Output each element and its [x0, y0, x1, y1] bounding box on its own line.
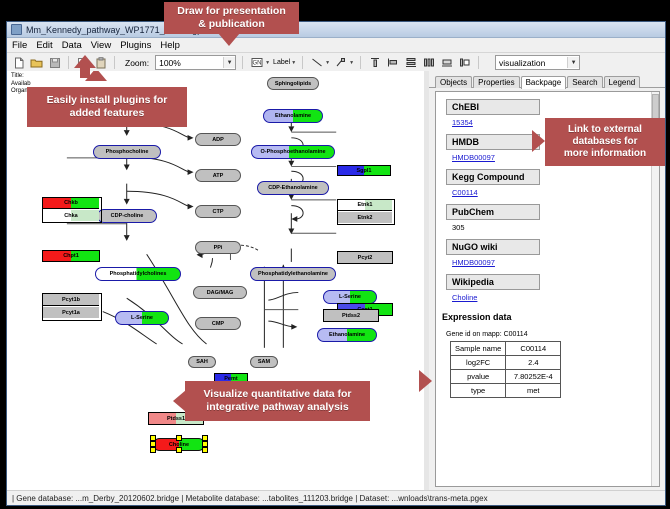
- node-label: Ethanolamine: [275, 113, 311, 119]
- toolbar-separator: [242, 56, 243, 69]
- db-entry-kegg: Kegg Compound C00114: [446, 162, 659, 197]
- node-label: CDP-choline: [111, 213, 144, 219]
- chevron-down-icon[interactable]: ▼: [223, 57, 235, 68]
- cell-label: type: [451, 384, 506, 398]
- zoom-label: Zoom:: [125, 58, 149, 68]
- node-label: SAH: [196, 359, 208, 365]
- node-atp[interactable]: ATP: [195, 169, 241, 182]
- meta-title: Title:: [11, 73, 32, 81]
- line-icon[interactable]: [309, 55, 324, 70]
- node-label: Phosphatidylcholines: [110, 271, 167, 277]
- node-label: CTP: [213, 209, 224, 215]
- status-bar: | Gene database: ...m_Derby_20120602.bri…: [7, 490, 665, 505]
- db-link-nugo[interactable]: HMDB00097: [452, 258, 659, 267]
- chevron-down-icon[interactable]: ▼: [567, 57, 579, 68]
- toolbar-separator: [478, 56, 479, 69]
- db-value-pubchem: 305: [452, 223, 659, 232]
- node-label: Pcyt2: [358, 255, 373, 261]
- node-l-serine-left[interactable]: L-Serine: [115, 311, 169, 325]
- callout-visualize-arrow: [173, 390, 186, 412]
- menu-item-plugins[interactable]: Plugins: [120, 40, 151, 51]
- resize-handle[interactable]: [176, 447, 182, 453]
- gene-pcyt1b[interactable]: Pcyt1b: [43, 294, 99, 306]
- node-sphingolipids[interactable]: Sphingolipids: [267, 77, 319, 90]
- db-name-nugo: NuGO wiki: [446, 239, 540, 255]
- menu-item-file[interactable]: File: [12, 40, 27, 51]
- callout-draw: Draw for presentation & publication: [164, 2, 299, 34]
- callout-links-line3: more information: [564, 148, 646, 160]
- gene-pcyt2[interactable]: Pcyt2: [337, 251, 393, 264]
- chevron-down-icon[interactable]: ▼: [325, 60, 330, 66]
- table-row: type met: [451, 384, 561, 398]
- db-name-pubchem: PubChem: [446, 204, 540, 220]
- cell-value: 2.4: [506, 356, 561, 370]
- datanode-dropdown[interactable]: GN ▼: [249, 55, 270, 70]
- node-label: Sgpl1: [357, 168, 372, 174]
- tab-search[interactable]: Search: [567, 76, 602, 88]
- panel-splitter[interactable]: [424, 71, 429, 491]
- resize-handle[interactable]: [176, 435, 182, 441]
- tab-legend[interactable]: Legend: [604, 76, 641, 88]
- db-entry-pubchem: PubChem 305: [446, 197, 659, 232]
- node-label: Etnk1: [358, 202, 373, 208]
- pathvisio-icon: [11, 24, 22, 35]
- gene-chpt1[interactable]: Chpt1: [42, 250, 100, 262]
- toolbar-separator: [360, 56, 361, 69]
- visualization-combo[interactable]: visualization ▼: [495, 55, 580, 70]
- callout-links: Link to external databases for more info…: [545, 118, 665, 166]
- node-phosphocholine[interactable]: Phosphocholine: [93, 145, 161, 159]
- gene-group-chk[interactable]: Chkb Chka: [42, 197, 102, 223]
- screenshot-root: Mm_Kennedy_pathway_WP1771_45176.gpml Fil…: [0, 0, 670, 509]
- gene-ptdss2[interactable]: Ptdss2: [323, 309, 379, 322]
- cell-label: pvalue: [451, 370, 506, 384]
- gene-etnk2[interactable]: Etnk2: [338, 212, 392, 223]
- callout-plugins-line2: added features: [70, 107, 145, 120]
- callout-draw-line1: Draw for presentation: [177, 5, 286, 18]
- selected-node-group[interactable]: Choline: [150, 435, 208, 452]
- datanode-icon[interactable]: GN: [249, 55, 264, 70]
- node-dag-mag[interactable]: DAG/MAG: [193, 286, 247, 299]
- open-folder-icon[interactable]: [29, 55, 44, 70]
- gene-chkb[interactable]: Chkb: [43, 198, 99, 209]
- chevron-down-icon[interactable]: ▼: [265, 60, 270, 66]
- distribute-icon[interactable]: [421, 55, 436, 70]
- menu-item-view[interactable]: View: [91, 40, 111, 51]
- new-document-icon[interactable]: [11, 55, 26, 70]
- db-name-chebi: ChEBI: [446, 99, 540, 115]
- node-o-phosphoethanolamine[interactable]: O-Phosphoethanolamine: [251, 145, 335, 159]
- gene-etnk1[interactable]: Etnk1: [338, 200, 392, 211]
- gene-group-pcyt1[interactable]: Pcyt1b Pcyt1a: [42, 293, 102, 321]
- db-name-wikipedia: Wikipedia: [446, 274, 540, 290]
- node-cdp-choline[interactable]: CDP-choline: [97, 209, 157, 223]
- gene-group-etnk[interactable]: Etnk1 Etnk2: [337, 199, 395, 225]
- application-window: Mm_Kennedy_pathway_WP1771_45176.gpml Fil…: [6, 21, 666, 506]
- node-ethanolamine-bottom[interactable]: Ethanolamine: [317, 328, 377, 342]
- db-entry-nugo: NuGO wiki HMDB00097: [446, 232, 659, 267]
- node-ppi[interactable]: PPi: [195, 241, 241, 254]
- node-label: Pcyt1b: [62, 297, 80, 303]
- callout-links-line1: Link to external: [568, 124, 642, 136]
- toolbar-separator: [68, 56, 69, 69]
- callout-draw-line2: & publication: [198, 18, 265, 31]
- node-cmp[interactable]: CMP: [195, 317, 241, 330]
- node-label: L-Serine: [339, 294, 361, 300]
- callout-visualize-line1: Visualize quantitative data for: [203, 388, 351, 401]
- expression-table: Sample name C00114 log2FC 2.4 pvalue 7.8…: [450, 341, 561, 398]
- pathway-canvas[interactable]: Title: Availab Organis: [7, 71, 429, 491]
- node-label: ATP: [213, 173, 224, 179]
- callout-visualize-line2: integrative pathway analysis: [206, 401, 348, 414]
- gene-id-on-mapp: Gene id on mapp: C00114: [446, 331, 659, 338]
- label-button[interactable]: Label: [273, 59, 290, 66]
- expression-data-heading: Expression data: [442, 312, 659, 322]
- node-ethanolamine-top[interactable]: Ethanolamine: [263, 109, 323, 123]
- node-label: SAM: [258, 359, 270, 365]
- node-adp[interactable]: ADP: [195, 133, 241, 146]
- node-label: Sphingolipids: [275, 81, 311, 87]
- callout-plugins-line1: Easily install plugins for: [47, 94, 168, 107]
- node-label: Ptdss1: [167, 416, 185, 422]
- arrow-stem: [80, 66, 90, 78]
- align-top-icon[interactable]: [367, 55, 382, 70]
- panel-tabs: Objects Properties Backpage Search Legen…: [429, 71, 665, 88]
- tab-properties[interactable]: Properties: [473, 76, 519, 88]
- node-label: PPi: [214, 245, 223, 251]
- node-label: DAG/MAG: [207, 290, 234, 296]
- node-label: Chka: [64, 213, 77, 219]
- visualization-value: visualization: [499, 58, 567, 68]
- common-width-icon[interactable]: [439, 55, 454, 70]
- node-label: CDP-Ethanolamine: [268, 185, 318, 191]
- tab-backpage[interactable]: Backpage: [521, 76, 567, 89]
- stack-vertical-icon[interactable]: [403, 55, 418, 70]
- toolbar-separator: [114, 56, 115, 69]
- bring-to-front-icon[interactable]: [457, 55, 472, 70]
- toolbar-separator: [302, 56, 303, 69]
- callout-draw-arrow: [218, 33, 240, 46]
- db-link-wikipedia[interactable]: Choline: [452, 293, 659, 302]
- node-label: L-Serine: [131, 315, 153, 321]
- node-label: Chpt1: [63, 253, 79, 259]
- table-row: log2FC 2.4: [451, 356, 561, 370]
- gene-chka[interactable]: Chka: [43, 210, 99, 221]
- zoom-value: 100%: [159, 58, 223, 68]
- callout-plugins: Easily install plugins for added feature…: [27, 87, 187, 127]
- node-label: O-Phosphoethanolamine: [260, 149, 325, 155]
- menu-item-edit[interactable]: Edit: [36, 40, 52, 51]
- node-label: Chkb: [64, 200, 78, 206]
- label-dropdown[interactable]: Label ▼: [273, 59, 296, 66]
- interaction-dropdown[interactable]: ▼: [333, 55, 354, 70]
- table-row: pvalue 7.80252E-4: [451, 370, 561, 384]
- title-bar: Mm_Kennedy_pathway_WP1771_45176.gpml: [7, 22, 665, 38]
- db-link-kegg[interactable]: C00114: [452, 188, 659, 197]
- chevron-down-icon[interactable]: ▼: [349, 60, 354, 66]
- db-name-hmdb: HMDB: [446, 134, 540, 150]
- resize-handle[interactable]: [150, 447, 156, 453]
- callout-links-arrow: [532, 130, 545, 152]
- node-label: Phosphocholine: [106, 149, 149, 155]
- cell-label: log2FC: [451, 356, 506, 370]
- tab-objects[interactable]: Objects: [435, 76, 472, 88]
- node-label: Ptdss2: [342, 313, 360, 319]
- svg-text:GN: GN: [252, 61, 261, 67]
- menu-bar: File Edit Data View Plugins Help: [7, 38, 665, 53]
- node-sah[interactable]: SAH: [188, 356, 216, 368]
- node-ctp[interactable]: CTP: [195, 205, 241, 218]
- save-disk-icon[interactable]: [47, 55, 62, 70]
- gene-sgpl1[interactable]: Sgpl1: [337, 165, 391, 176]
- node-phosphatidylethanolamine[interactable]: Phosphatidylethanolamine: [250, 267, 336, 281]
- align-left-icon[interactable]: [385, 55, 400, 70]
- node-label: Ethanolamine: [329, 332, 365, 338]
- node-label: Pcyt1a: [62, 310, 80, 316]
- resize-handle[interactable]: [202, 447, 208, 453]
- chevron-down-icon[interactable]: ▼: [291, 60, 296, 66]
- zoom-combo[interactable]: 100% ▼: [155, 55, 236, 70]
- interaction-icon[interactable]: [333, 55, 348, 70]
- node-label: ADP: [212, 137, 224, 143]
- node-cdp-ethanolamine[interactable]: CDP-Ethanolamine: [257, 181, 329, 195]
- callout-visualize-arrow-right: [419, 370, 432, 392]
- gene-pcyt1a[interactable]: Pcyt1a: [43, 307, 99, 318]
- node-label: Phosphatidylethanolamine: [258, 271, 328, 277]
- callout-plugins-pointer: [74, 55, 96, 77]
- node-label: CMP: [212, 321, 224, 327]
- menu-item-data[interactable]: Data: [62, 40, 82, 51]
- node-l-serine-right[interactable]: L-Serine: [323, 290, 377, 304]
- cell-value: C00114: [506, 342, 561, 356]
- callout-visualize: Visualize quantitative data for integrat…: [185, 381, 370, 421]
- toolbar: Zoom: 100% ▼ GN ▼ Label ▼ ▼: [7, 53, 665, 73]
- line-dropdown[interactable]: ▼: [309, 55, 330, 70]
- node-phosphatidylcholines[interactable]: Phosphatidylcholines: [95, 267, 181, 281]
- cell-value: 7.80252E-4: [506, 370, 561, 384]
- cell-value: met: [506, 384, 561, 398]
- menu-item-help[interactable]: Help: [160, 40, 180, 51]
- table-row: Sample name C00114: [451, 342, 561, 356]
- node-sam[interactable]: SAM: [250, 356, 278, 368]
- node-label: Etnk2: [358, 215, 373, 221]
- status-text: | Gene database: ...m_Derby_20120602.bri…: [12, 494, 488, 503]
- db-entry-wikipedia: Wikipedia Choline: [446, 267, 659, 302]
- db-name-kegg: Kegg Compound: [446, 169, 540, 185]
- cell-label: Sample name: [451, 342, 506, 356]
- callout-links-line2: databases for: [572, 136, 637, 148]
